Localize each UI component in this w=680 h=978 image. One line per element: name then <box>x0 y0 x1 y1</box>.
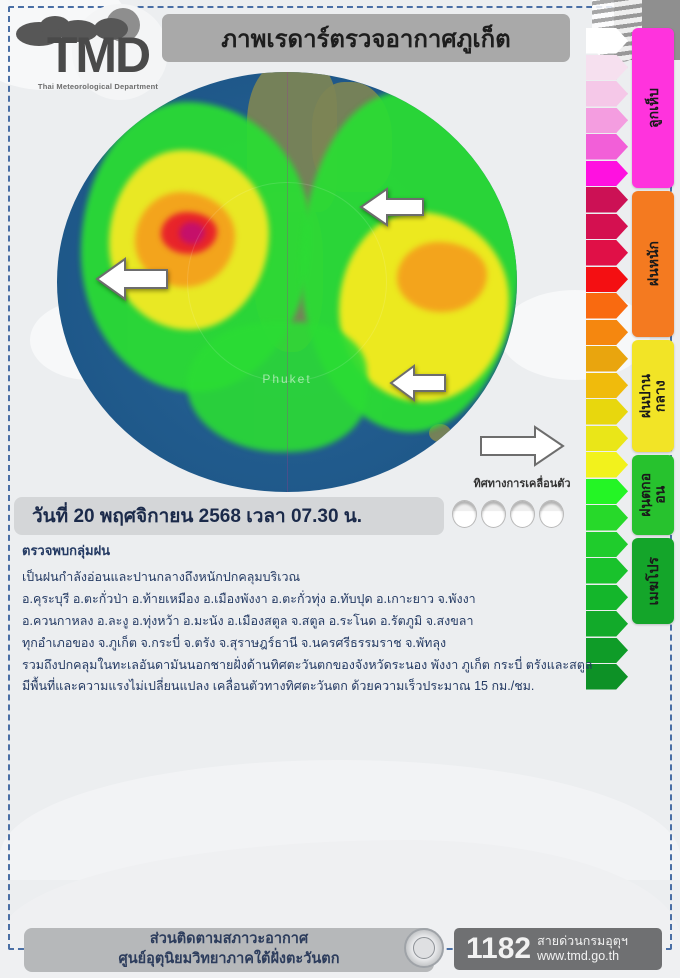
intensity-color-scale: ลูกเห็บฝนหนักฝนปาน กลางฝนตกอ ่อนเมฆโปร <box>586 28 678 578</box>
color-swatch <box>586 240 628 266</box>
direction-legend-label: ทิศทางการเคลื่อนตัว <box>452 474 592 492</box>
radar-crosshair <box>287 72 288 492</box>
website-url: www.tmd.go.th <box>537 949 628 964</box>
footer-org-line2: ศูนย์อุตุนิยมวิทยาภาคใต้ฝั่งตะวันตก <box>119 950 340 970</box>
color-swatch <box>586 346 628 372</box>
echo-arrow-lower <box>387 362 449 404</box>
color-swatch <box>586 373 628 399</box>
color-swatch <box>586 426 628 452</box>
intensity-category: ลูกเห็บ <box>632 28 674 188</box>
background-wave-1 <box>0 760 680 880</box>
intensity-category-label: ฝนหนัก <box>646 241 661 286</box>
decorative-dot <box>539 500 564 528</box>
intensity-category: ฝนตกอ ่อน <box>632 455 674 535</box>
decorative-dots <box>452 500 564 528</box>
intensity-category-label: เมฆโปร <box>646 557 661 605</box>
advisory-line: อ.คุระบุรี อ.ตะกั่วป่า อ.ท้ายเหมือง อ.เม… <box>22 589 622 611</box>
color-swatch <box>586 505 628 531</box>
decorative-dot <box>510 500 535 528</box>
advisory-heading: ตรวจพบกลุ่มฝน <box>22 540 622 561</box>
color-swatch <box>586 161 628 187</box>
color-swatch <box>586 399 628 425</box>
hotline-badge[interactable]: 1182 สายด่วนกรมอุตุฯ www.tmd.go.th <box>454 928 662 970</box>
color-swatch <box>586 479 628 505</box>
color-swatch <box>586 134 628 160</box>
radar-image: Phuket <box>57 72 517 492</box>
color-swatch <box>586 28 628 54</box>
decorative-dot <box>452 500 477 528</box>
intensity-category: เมฆโปร <box>632 538 674 624</box>
color-swatch <box>586 320 628 346</box>
seal-inner <box>413 937 435 959</box>
page-title-text: ภาพเรดาร์ตรวจอากาศภูเก็ต <box>221 19 510 58</box>
intensity-category-label: ฝนปาน กลาง <box>638 374 667 418</box>
intensity-category-list: ลูกเห็บฝนหนักฝนปาน กลางฝนตกอ ่อนเมฆโปร <box>632 28 676 627</box>
color-swatch <box>586 452 628 478</box>
intensity-category: ฝนหนัก <box>632 191 674 337</box>
color-swatch <box>586 214 628 240</box>
intensity-category: ฝนปาน กลาง <box>632 340 674 452</box>
advisory-lines: เป็นฝนกำลังอ่อนและปานกลางถึงหนักปกคลุมบร… <box>22 567 622 698</box>
color-swatch <box>586 108 628 134</box>
color-swatch <box>586 55 628 81</box>
radar-center-label: Phuket <box>262 372 311 386</box>
color-swatch <box>586 81 628 107</box>
direction-legend: ทิศทางการเคลื่อนตัว <box>452 424 592 492</box>
advisory-line: ทุกอำเภอของ จ.ภูเก็ต จ.กระบี่ จ.ตรัง จ.ส… <box>22 633 622 655</box>
tmd-seal-icon <box>404 928 444 968</box>
intensity-category-label: ฝนตกอ ่อน <box>638 473 667 517</box>
advisory-line: อ.ควนกาหลง อ.ละงู อ.ทุ่งหว้า อ.มะนัง อ.เ… <box>22 611 622 633</box>
advisory-line: มีพื้นที่และความแรงไม่เปลี่ยนแปลง เคลื่อ… <box>22 676 622 698</box>
echo-arrow-upper <box>357 184 427 230</box>
hotline-label: สายด่วนกรมอุตุฯ <box>537 934 628 949</box>
observation-datetime-text: วันที่ 20 พฤศจิกายน 2568 เวลา 07.30 น. <box>32 501 362 531</box>
hotline-details: สายด่วนกรมอุตุฯ www.tmd.go.th <box>537 934 628 964</box>
advisory-line: รวมถึงปกคลุมในทะเลอันดามันนอกชายฝั่งด้าน… <box>22 655 622 677</box>
color-swatch <box>586 293 628 319</box>
advisory-line: เป็นฝนกำลังอ่อนและปานกลางถึงหนักปกคลุมบร… <box>22 567 622 589</box>
advisory-text-block: ตรวจพบกลุ่มฝน เป็นฝนกำลังอ่อนและปานกลางถ… <box>22 540 622 698</box>
footer-organization: ส่วนติดตามสภาวะอากาศ ศูนย์อุตุนิยมวิทยาภ… <box>24 928 434 972</box>
page-title: ภาพเรดาร์ตรวจอากาศภูเก็ต <box>162 14 570 62</box>
decorative-dot <box>481 500 506 528</box>
footer-org-line1: ส่วนติดตามสภาวะอากาศ <box>150 930 308 950</box>
color-swatch <box>586 267 628 293</box>
echo-arrow-middle <box>93 254 171 304</box>
direction-legend-arrow <box>477 424 567 468</box>
hotline-number: 1182 <box>466 934 531 964</box>
observation-datetime-bar: วันที่ 20 พฤศจิกายน 2568 เวลา 07.30 น. <box>14 497 444 535</box>
intensity-category-label: ลูกเห็บ <box>646 88 661 128</box>
color-swatch <box>586 187 628 213</box>
